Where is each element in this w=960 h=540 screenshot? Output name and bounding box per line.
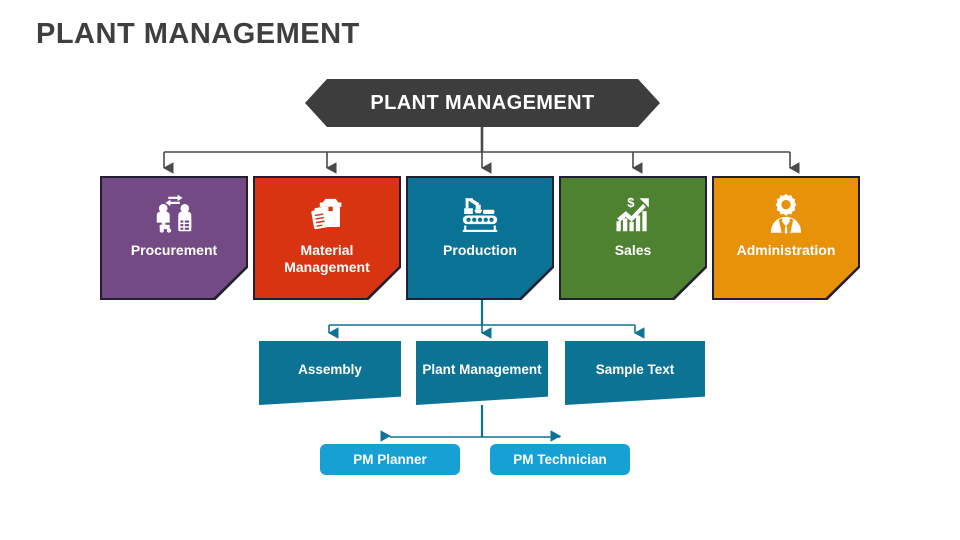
- inventory-box-clipboard-icon: [304, 192, 350, 236]
- leaf-node-label: PM Technician: [513, 452, 607, 467]
- department-card-procurement[interactable]: Procurement: [100, 176, 248, 300]
- department-label: Material Management: [262, 242, 392, 275]
- connector-group-tier1: [164, 127, 790, 168]
- sub-node-plant-management[interactable]: Plant Management: [416, 341, 548, 405]
- leaf-node-pm-technician[interactable]: PM Technician: [490, 444, 630, 475]
- department-card-sales[interactable]: $ Sales: [559, 176, 707, 300]
- procurement-exchange-icon: [151, 192, 197, 236]
- department-label: Administration: [721, 242, 851, 259]
- svg-text:$: $: [627, 195, 634, 210]
- sub-node-label: Plant Management: [422, 362, 541, 383]
- leaf-node-label: PM Planner: [353, 452, 427, 467]
- sub-node-assembly[interactable]: Assembly: [259, 341, 401, 405]
- sub-node-label: Assembly: [298, 362, 362, 383]
- businessman-gear-icon: [763, 192, 809, 236]
- department-card-administration[interactable]: Administration: [712, 176, 860, 300]
- department-label: Procurement: [109, 242, 239, 259]
- leaf-node-pm-planner[interactable]: PM Planner: [320, 444, 460, 475]
- sub-node-label: Sample Text: [596, 362, 675, 383]
- growth-chart-dollar-icon: $: [610, 192, 656, 236]
- department-card-production[interactable]: Production: [406, 176, 554, 300]
- conveyor-robot-arm-icon: [457, 192, 503, 236]
- slide-canvas: PLANT MANAGEMENT PLANT MANAGEMENT: [0, 0, 960, 540]
- connector-group-tier2: [329, 300, 635, 333]
- connector-group-tier3: [390, 405, 560, 437]
- department-label: Production: [415, 242, 545, 259]
- department-label: Sales: [568, 242, 698, 259]
- sub-node-sample-text[interactable]: Sample Text: [565, 341, 705, 405]
- department-card-material-management[interactable]: Material Management: [253, 176, 401, 300]
